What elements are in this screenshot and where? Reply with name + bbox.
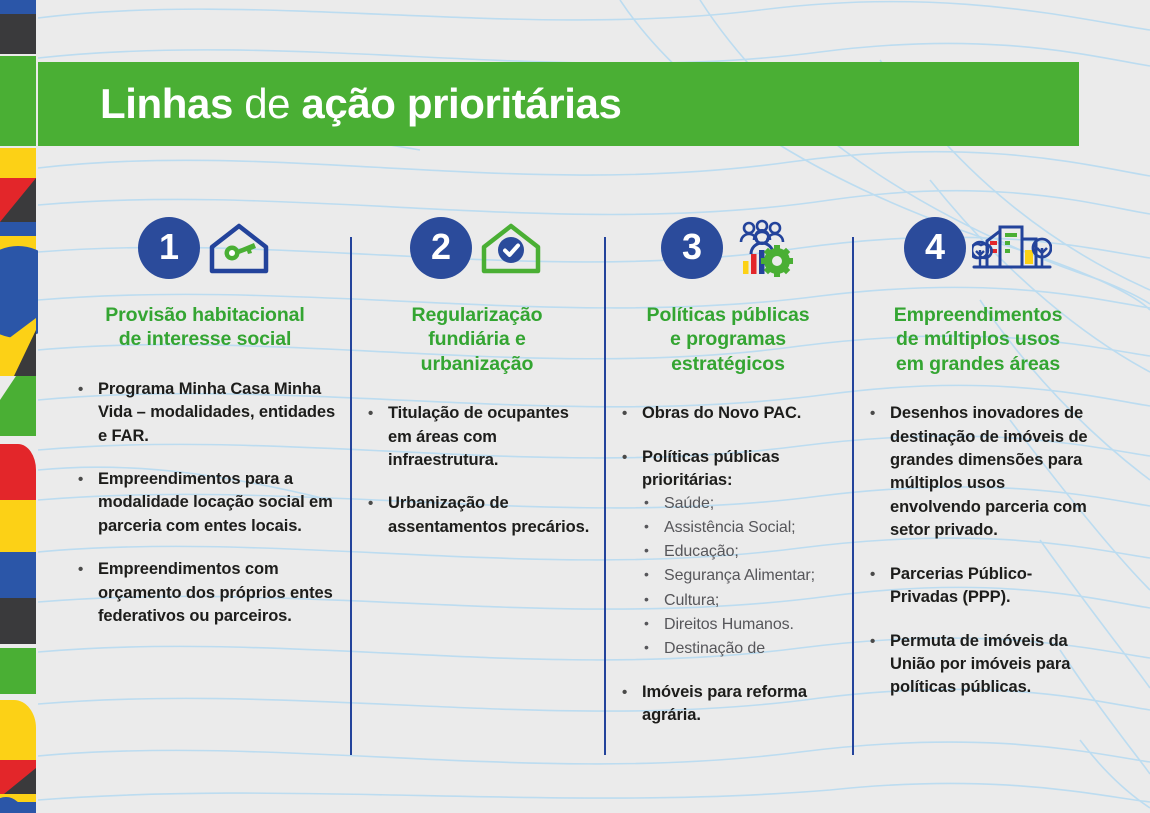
- sub-bullet-dot-icon: •: [642, 613, 664, 636]
- column-2-number-badge: 2: [410, 217, 472, 279]
- column-1-title-line-1: Provisão habitacional: [74, 303, 336, 327]
- page-title: Linhas de ação prioritárias: [38, 80, 621, 128]
- list-item: • Empreendimentos para a modalidade loca…: [74, 468, 336, 538]
- column-3-title-line-3: estratégicos: [618, 352, 838, 376]
- column-4-title-line-3: em grandes áreas: [866, 352, 1090, 376]
- sub-bullet-text: Direitos Humanos.: [664, 613, 794, 636]
- column-2: 2 Regularização fundiária e urbanização …: [350, 205, 604, 785]
- column-3-title: Políticas públicas e programas estratégi…: [618, 303, 838, 376]
- column-3-title-line-2: e programas: [618, 327, 838, 351]
- column-3-header: 3: [618, 205, 838, 291]
- column-1-header: 1: [74, 205, 336, 291]
- sub-bullet-dot-icon: •: [642, 637, 664, 660]
- priority-columns: 1 Provisão habitacional de interesse soc…: [60, 205, 1120, 785]
- bullet-text: Parcerias Público-Privadas (PPP).: [890, 563, 1090, 610]
- sub-list-item: • Segurança Alimentar;: [642, 564, 838, 587]
- column-4-title: Empreendimentos de múltiplos usos em gra…: [866, 303, 1090, 376]
- sub-bullet-dot-icon: •: [642, 564, 664, 587]
- bullet-text: Obras do Novo PAC.: [642, 402, 838, 425]
- sub-bullet-text: Educação;: [664, 540, 739, 563]
- sub-list: • Saúde; • Assistência Social; • Educaçã…: [642, 492, 838, 659]
- column-1: 1 Provisão habitacional de interesse soc…: [60, 205, 350, 785]
- sub-list-item: • Cultura;: [642, 589, 838, 612]
- column-4-title-line-2: de múltiplos usos: [866, 327, 1090, 351]
- bullet-dot-icon: •: [866, 630, 890, 700]
- bullet-text: Imóveis para reforma agrária.: [642, 681, 838, 728]
- column-divider: [604, 237, 606, 755]
- bullet-dot-icon: •: [618, 402, 642, 425]
- sub-list-item: • Saúde;: [642, 492, 838, 515]
- page-title-part-1: Linhas: [100, 80, 233, 127]
- sub-bullet-dot-icon: •: [642, 540, 664, 563]
- slide-root: Linhas de ação prioritárias 1 Provisão h…: [0, 0, 1150, 813]
- house-check-icon: [478, 217, 544, 279]
- column-2-title: Regularização fundiária e urbanização: [364, 303, 590, 376]
- column-3-number-badge: 3: [661, 217, 723, 279]
- sub-list-item: • Assistência Social;: [642, 516, 838, 539]
- sub-bullet-text: Destinação de: [664, 637, 765, 660]
- bullet-dot-icon: •: [74, 558, 98, 628]
- list-item: • Urbanização de assentamentos precários…: [364, 492, 590, 539]
- header-banner: Linhas de ação prioritárias: [38, 62, 1079, 146]
- bullet-dot-icon: •: [74, 468, 98, 538]
- sub-bullet-text: Assistência Social;: [664, 516, 796, 539]
- column-divider: [852, 237, 854, 755]
- house-key-icon: [206, 217, 272, 279]
- column-4: 4: [852, 205, 1104, 785]
- bullet-dot-icon: •: [618, 446, 642, 661]
- list-item: • Parcerias Público-Privadas (PPP).: [866, 563, 1090, 610]
- column-4-bullets: • Desenhos inovadores de destinação de i…: [866, 402, 1090, 700]
- bullet-text: Políticas públicas prioritárias: • Saúde…: [642, 446, 838, 661]
- bullet-text: Programa Minha Casa Minha Vida – modalid…: [98, 378, 336, 448]
- bullet-text: Permuta de imóveis da União por imóveis …: [890, 630, 1090, 700]
- sub-bullet-dot-icon: •: [642, 492, 664, 515]
- sub-bullet-text: Saúde;: [664, 492, 714, 515]
- bullet-dot-icon: •: [364, 492, 388, 539]
- column-2-title-line-2: fundiária e: [364, 327, 590, 351]
- column-4-title-line-1: Empreendimentos: [866, 303, 1090, 327]
- list-item: • Políticas públicas prioritárias: • Saú…: [618, 446, 838, 661]
- bullet-text: Desenhos inovadores de destinação de imó…: [890, 402, 1090, 543]
- sub-list-item: • Educação;: [642, 540, 838, 563]
- bullet-dot-icon: •: [866, 563, 890, 610]
- list-item: • Programa Minha Casa Minha Vida – modal…: [74, 378, 336, 448]
- bullet-text: Urbanização de assentamentos precários.: [388, 492, 590, 539]
- column-2-title-line-3: urbanização: [364, 352, 590, 376]
- column-3: 3: [604, 205, 852, 785]
- bullet-text-label: Políticas públicas prioritárias:: [642, 448, 780, 489]
- list-item: • Permuta de imóveis da União por imóvei…: [866, 630, 1090, 700]
- column-4-number-badge: 4: [904, 217, 966, 279]
- column-2-title-line-1: Regularização: [364, 303, 590, 327]
- city-buildings-trees-icon: [972, 217, 1052, 279]
- sub-bullet-text: Segurança Alimentar;: [664, 564, 815, 587]
- page-title-part-3: ação prioritárias: [301, 80, 621, 127]
- list-item: • Obras do Novo PAC.: [618, 402, 838, 425]
- bullet-dot-icon: •: [618, 681, 642, 728]
- column-2-bullets: • Titulação de ocupantes em áreas com in…: [364, 402, 590, 539]
- bullet-dot-icon: •: [364, 402, 388, 472]
- brazil-flag-decorative-stripe: [0, 0, 38, 813]
- sub-list-item: • Destinação de: [642, 637, 838, 660]
- bullet-text: Titulação de ocupantes em áreas com infr…: [388, 402, 590, 472]
- sub-bullet-dot-icon: •: [642, 589, 664, 612]
- column-divider: [350, 237, 352, 755]
- column-1-title: Provisão habitacional de interesse socia…: [74, 303, 336, 352]
- bullet-dot-icon: •: [866, 402, 890, 543]
- bullet-text: Empreendimentos para a modalidade locaçã…: [98, 468, 336, 538]
- page-title-part-2: de: [233, 80, 301, 127]
- sub-bullet-text: Cultura;: [664, 589, 719, 612]
- sub-list-item: • Direitos Humanos.: [642, 613, 838, 636]
- bullet-dot-icon: •: [74, 378, 98, 448]
- column-4-header: 4: [866, 205, 1090, 291]
- list-item: • Titulação de ocupantes em áreas com in…: [364, 402, 590, 472]
- column-2-header: 2: [364, 205, 590, 291]
- people-chart-gear-icon: [729, 217, 795, 279]
- column-1-title-line-2: de interesse social: [74, 327, 336, 351]
- list-item: • Desenhos inovadores de destinação de i…: [866, 402, 1090, 543]
- list-item: • Imóveis para reforma agrária.: [618, 681, 838, 728]
- column-3-bullets: • Obras do Novo PAC. • Políticas pública…: [618, 402, 838, 727]
- column-3-title-line-1: Políticas públicas: [618, 303, 838, 327]
- sub-bullet-dot-icon: •: [642, 516, 664, 539]
- column-1-bullets: • Programa Minha Casa Minha Vida – modal…: [74, 378, 336, 629]
- bullet-text: Empreendimentos com orçamento dos própri…: [98, 558, 336, 628]
- column-1-number-badge: 1: [138, 217, 200, 279]
- list-item: • Empreendimentos com orçamento dos próp…: [74, 558, 336, 628]
